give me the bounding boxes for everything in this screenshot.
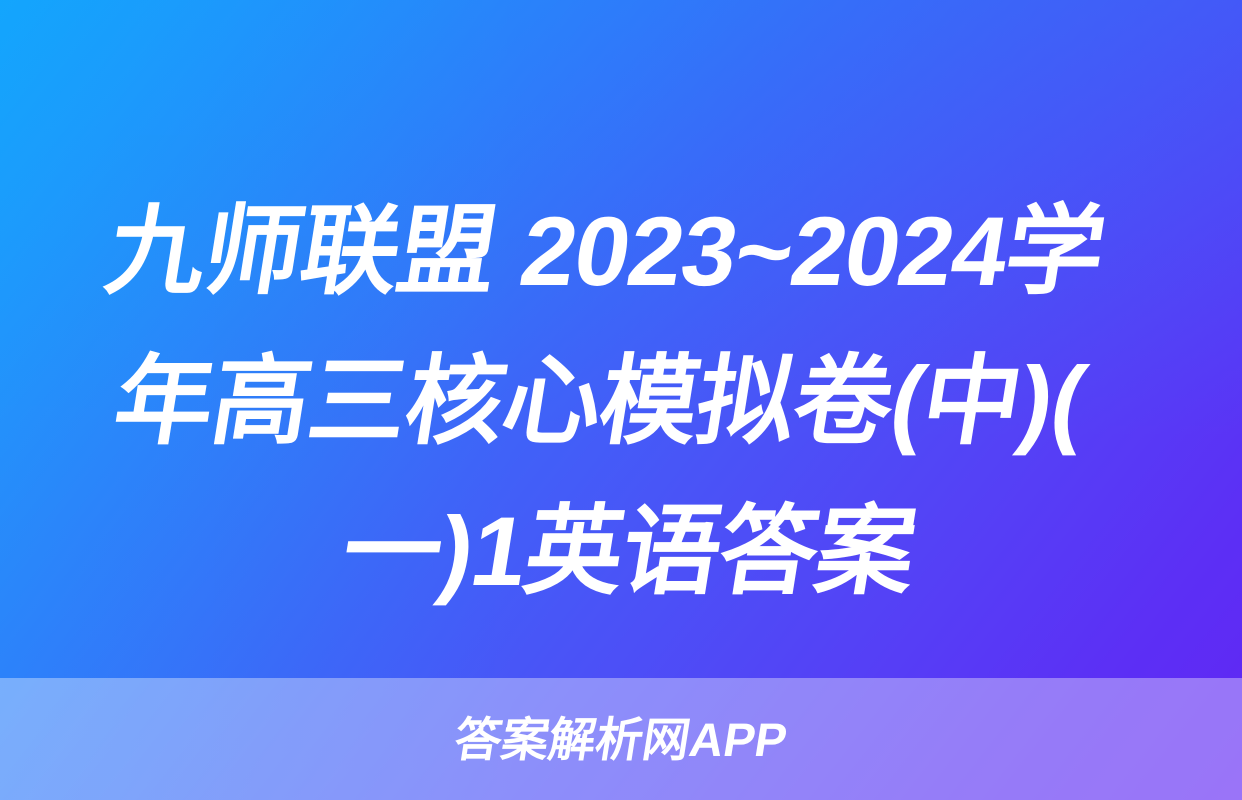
- headline-line-1: 九师联盟 2023~2024学: [96, 176, 1180, 326]
- watermark-text: 答案解析网APP: [451, 716, 790, 763]
- headline-line-3: 一)1英语答案: [96, 476, 1180, 626]
- page-title: 九师联盟 2023~2024学 年高三核心模拟卷(中)( 一)1英语答案: [96, 176, 1156, 626]
- footer-watermark-band: 答案解析网APP: [0, 678, 1242, 800]
- headline-line-2: 年高三核心模拟卷(中)(: [96, 326, 1180, 476]
- cover-card: 九师联盟 2023~2024学 年高三核心模拟卷(中)( 一)1英语答案 答案解…: [0, 0, 1242, 800]
